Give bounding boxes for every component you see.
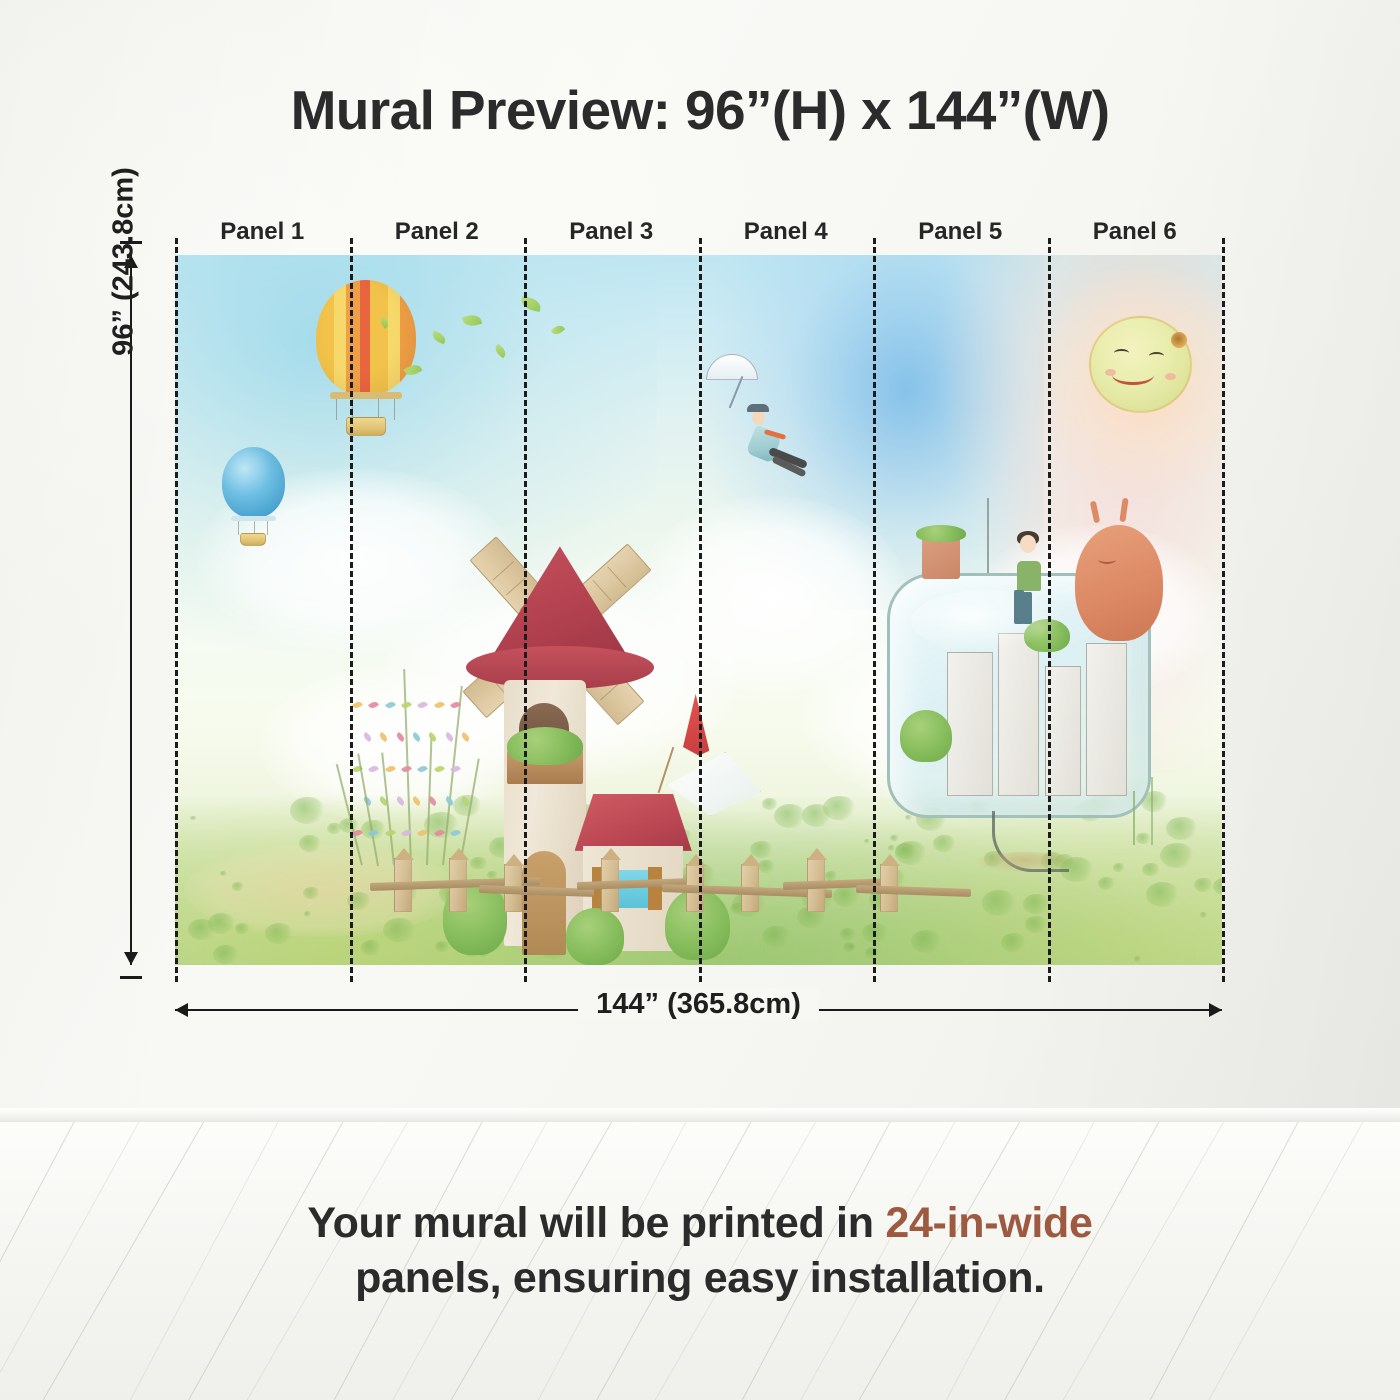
plant-leaf (450, 828, 461, 838)
grass-texture (235, 923, 250, 934)
planter-greenery (507, 727, 583, 765)
grass-texture (982, 890, 1016, 916)
height-dimension-label: 96” (243.8cm) (108, 92, 141, 432)
annex-roof (575, 794, 692, 851)
boy-body (1017, 561, 1041, 591)
boy-on-dome (1010, 525, 1063, 620)
panel-divider-5 (1048, 238, 1051, 982)
plant-leaf (368, 700, 379, 710)
grass-texture (290, 797, 325, 823)
turret-greenery (916, 525, 966, 542)
plant-leaf (444, 732, 455, 742)
grass-texture (190, 816, 196, 821)
grass-texture (1025, 916, 1047, 933)
grass-texture (802, 804, 832, 827)
caption-accent: 24-in-wide (885, 1199, 1092, 1247)
flying-umbrella-man (704, 347, 819, 503)
grass-texture (1146, 882, 1180, 907)
red-gnome-cap (683, 694, 709, 756)
panel-label-1: Panel 1 (175, 216, 350, 248)
dome-building (998, 633, 1039, 796)
sun-smile (1112, 365, 1154, 385)
plant-leaf (427, 732, 438, 742)
sun-cheek (1165, 373, 1176, 380)
grass-texture (1023, 894, 1050, 914)
panel-divider-1 (350, 238, 353, 982)
plant-leaf (385, 764, 396, 774)
panel-divider-4 (873, 238, 876, 982)
grass-texture (1200, 912, 1207, 917)
grass-texture (208, 913, 235, 933)
picket-fence (322, 844, 929, 943)
man-head (752, 410, 765, 425)
smiling-sun (1075, 298, 1211, 454)
width-dimension-text: 144” (365.8cm) (578, 988, 819, 1020)
plant-leaf (434, 764, 445, 774)
panel-label-5: Panel 5 (873, 216, 1048, 248)
panel-label-6: Panel 6 (1048, 216, 1223, 248)
plant-stem (442, 686, 463, 866)
panel-divider-0 (175, 238, 178, 982)
dome-building (1086, 643, 1127, 796)
installation-caption: Your mural will be printed in 24-in-wide… (0, 1196, 1400, 1306)
grass-texture (864, 839, 870, 844)
grass-texture (299, 835, 321, 851)
grass-texture (1194, 878, 1213, 892)
width-dimension-label: 144” (365.8cm) (175, 988, 1222, 1021)
plant-leaf (368, 764, 379, 774)
caption-line-2: panels, ensuring easy installation. (0, 1251, 1400, 1306)
glass-dome-city (887, 525, 1180, 866)
panel-label-4: Panel 4 (699, 216, 874, 248)
sun-flower (1171, 332, 1187, 348)
sun-eye-left (1114, 349, 1129, 357)
boy-head (1020, 535, 1036, 553)
plant-leaf (460, 732, 471, 742)
panel-label-2: Panel 2 (350, 216, 525, 248)
panel-divider-2 (524, 238, 527, 982)
grass-texture (774, 804, 806, 828)
grass-texture (232, 882, 243, 891)
plant-leaf (378, 732, 389, 742)
grass-texture (303, 887, 320, 899)
dimension-tick-bottom (120, 976, 142, 979)
dimension-arrow-down (124, 952, 138, 965)
dome-vine (1151, 777, 1153, 845)
panel-divider-3 (699, 238, 702, 982)
page-title: Mural Preview: 96”(H) x 144”(W) (0, 78, 1400, 142)
plant-leaf (395, 732, 406, 742)
plant-leaf (444, 796, 455, 806)
plant-leaf (411, 732, 422, 742)
panel-divider-6 (1222, 238, 1225, 982)
plant-leaf (417, 764, 428, 774)
plant-leaf (385, 700, 396, 710)
dome-greenery (900, 710, 952, 763)
grass-texture (1134, 956, 1141, 961)
hot-air-balloon-blue (222, 447, 285, 546)
caption-prefix: Your mural will be printed in (307, 1199, 885, 1247)
plant-leaf (411, 796, 422, 806)
grass-texture (1098, 877, 1115, 890)
orange-rabbit-creature (1075, 525, 1163, 641)
umbrella-pole (728, 376, 742, 408)
plant-leaf (434, 700, 445, 710)
plant-leaf (395, 796, 406, 806)
turret-antenna (987, 498, 989, 573)
grass-texture (1001, 933, 1025, 951)
plant-leaf (417, 700, 428, 710)
grass-texture (762, 798, 778, 810)
hot-air-balloon-yellow (316, 280, 415, 436)
panel-label-3: Panel 3 (524, 216, 699, 248)
decorative-plants (353, 653, 479, 866)
umbrella-icon (706, 354, 758, 380)
man-hat (747, 404, 769, 412)
sun-eye-right (1149, 352, 1164, 360)
dome-vine (1133, 791, 1135, 846)
dome-building (947, 652, 993, 796)
plant-leaf (352, 700, 363, 710)
mural-preview-page: Mural Preview: 96”(H) x 144”(W) Panel 1P… (0, 0, 1400, 1400)
grass-texture (213, 945, 239, 964)
boy-leg (1022, 592, 1032, 624)
plant-leaf (362, 732, 373, 742)
plant-leaf (434, 828, 445, 838)
caption-line-1: Your mural will be printed in 24-in-wide (0, 1196, 1400, 1251)
